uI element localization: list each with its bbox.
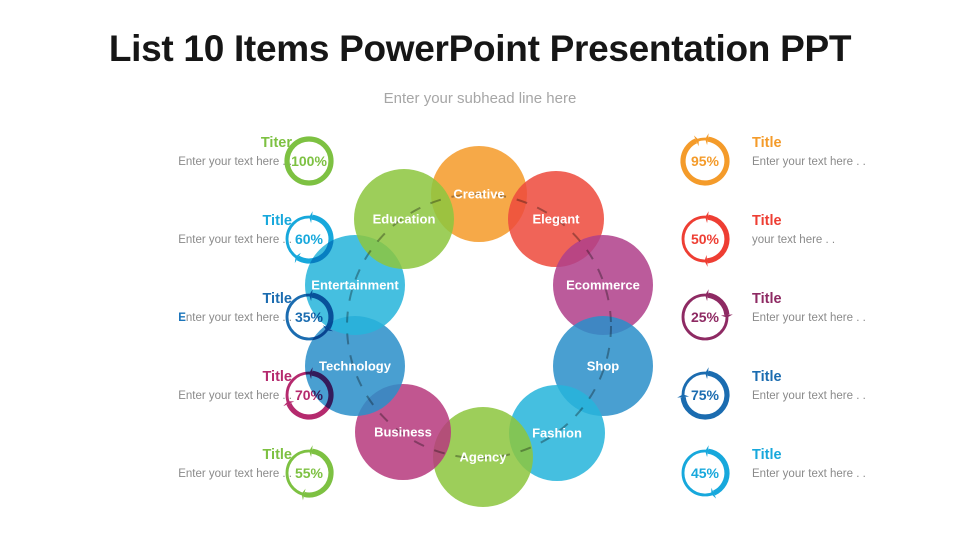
item-title: Title bbox=[60, 368, 292, 386]
item-title: Titer bbox=[60, 134, 292, 152]
item-description-rest: nter your text here . . bbox=[186, 312, 292, 324]
list-item[interactable]: 25%TitleEnter your text here . . bbox=[660, 288, 960, 358]
bubble-label: Entertainment bbox=[311, 277, 399, 292]
item-text-block: TitleEnter your text here . . bbox=[60, 212, 292, 248]
item-title: Title bbox=[752, 368, 960, 386]
item-description: Enter your text here . . bbox=[60, 232, 292, 248]
item-title: Title bbox=[752, 134, 960, 152]
item-description: Enter your text here . . bbox=[752, 154, 960, 170]
item-description: Enter your text here . . bbox=[752, 466, 960, 482]
item-description: Enter your text here . . bbox=[752, 388, 960, 404]
bubble-label: Business bbox=[374, 424, 432, 439]
item-description: Enter your text here . . bbox=[60, 310, 292, 326]
list-item[interactable]: 45%TitleEnter your text here . . bbox=[660, 444, 960, 514]
item-description: Enter your text here . . bbox=[752, 310, 960, 326]
item-text-block: TitleEnter your text here . . bbox=[752, 446, 960, 482]
item-text-block: TitleEnter your text here . . bbox=[752, 368, 960, 404]
item-description: Enter your text here . . bbox=[60, 154, 292, 170]
item-description: Enter your text here . . bbox=[60, 466, 292, 482]
cluster-svg: CreativeElegantEcommerceShopFashionAgenc… bbox=[296, 138, 666, 530]
list-item[interactable]: 50%Title your text here . . bbox=[660, 210, 960, 280]
item-text-block: TitleEnter your text here . . bbox=[60, 290, 292, 326]
item-title: Title bbox=[752, 212, 960, 230]
item-text-block: TitleEnter your text here . . bbox=[752, 290, 960, 326]
item-description: Enter your text here . . bbox=[60, 388, 292, 404]
item-text-block: TitleEnter your text here . . bbox=[60, 368, 292, 404]
bubble-label: Ecommerce bbox=[566, 277, 640, 292]
item-title: Title bbox=[752, 446, 960, 464]
item-text-block: TitleEnter your text here . . bbox=[752, 134, 960, 170]
progress-ring: 25% bbox=[676, 288, 734, 346]
item-text-block: TiterEnter your text here . . bbox=[60, 134, 292, 170]
page-subhead: Enter your subhead line here bbox=[0, 90, 960, 107]
item-title: Title bbox=[60, 446, 292, 464]
item-title: Title bbox=[752, 290, 960, 308]
right-items-column: 95%TitleEnter your text here . .50%Title… bbox=[660, 132, 960, 522]
bubble-label: Education bbox=[373, 211, 436, 226]
accent-first-letter: E bbox=[178, 312, 186, 324]
list-item[interactable]: 95%TitleEnter your text here . . bbox=[660, 132, 960, 202]
bubble-label: Creative bbox=[453, 186, 504, 201]
bubble-label: Elegant bbox=[533, 211, 581, 226]
progress-ring: 50% bbox=[676, 210, 734, 268]
progress-ring: 75% bbox=[676, 366, 734, 424]
circle-cluster-diagram: CreativeElegantEcommerceShopFashionAgenc… bbox=[296, 138, 666, 530]
bubble-label: Shop bbox=[587, 358, 620, 373]
item-description: your text here . . bbox=[752, 232, 960, 248]
item-text-block: TitleEnter your text here . . bbox=[60, 446, 292, 482]
bubble-label: Technology bbox=[319, 358, 392, 373]
item-text-block: Title your text here . . bbox=[752, 212, 960, 248]
item-title: Title bbox=[60, 290, 292, 308]
page-title: List 10 Items PowerPoint Presentation PP… bbox=[0, 28, 960, 70]
progress-ring: 45% bbox=[676, 444, 734, 502]
list-item[interactable]: 75%TitleEnter your text here . . bbox=[660, 366, 960, 436]
bubble-label: Fashion bbox=[532, 425, 582, 440]
slide-canvas: List 10 Items PowerPoint Presentation PP… bbox=[0, 0, 960, 540]
item-title: Title bbox=[60, 212, 292, 230]
progress-ring: 95% bbox=[676, 132, 734, 190]
bubble-label: Agency bbox=[460, 449, 508, 464]
